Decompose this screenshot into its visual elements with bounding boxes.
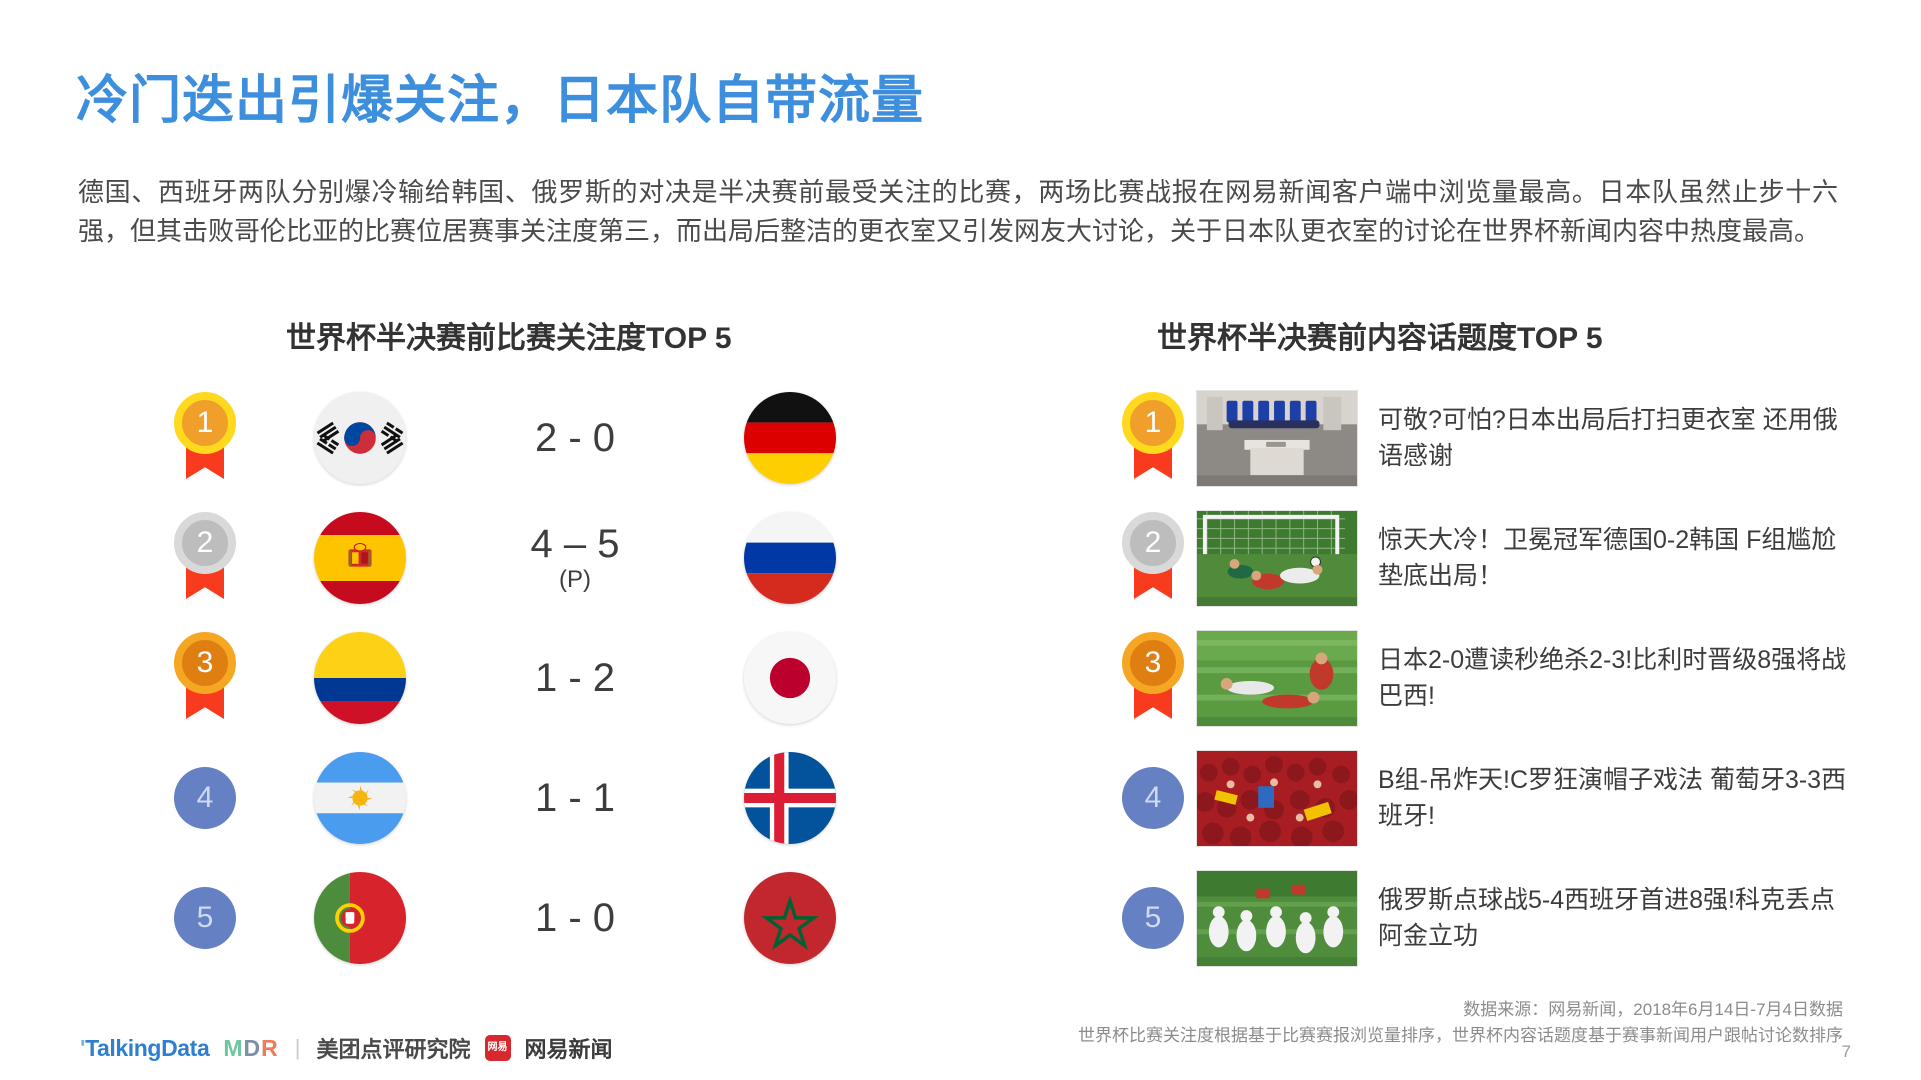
- talkingdata-logo: 'TalkingData: [80, 1035, 209, 1062]
- rank-medal-2: 2: [174, 512, 236, 604]
- topic-row[interactable]: 1 可敬?可怕?日本出局后打扫更衣室 还用俄语感谢: [1110, 378, 1890, 498]
- team-b-cell: [700, 632, 880, 724]
- topic-title: 可敬?可怕?日本出局后打扫更衣室 还用俄语感谢: [1378, 402, 1858, 474]
- talkingdata-label: TalkingData: [85, 1035, 209, 1061]
- score-value: 1 - 1: [535, 776, 615, 820]
- score-value: 4 – 5: [531, 522, 620, 566]
- team-a-cell: [270, 512, 450, 604]
- rank-cell: 4: [1110, 767, 1196, 829]
- logo-bar: 'TalkingData MDR | 美团点评研究院 网易 网易新闻: [80, 1032, 613, 1064]
- rank-cell: 5: [140, 887, 270, 949]
- logo-divider: |: [295, 1035, 301, 1061]
- team-celebration-photo: [1196, 870, 1358, 967]
- source-line-1: 数据来源：网易新闻，2018年6月14日-7月4日数据: [1078, 997, 1843, 1023]
- red-crowd-photo: [1196, 750, 1358, 847]
- flag-es-icon: [314, 512, 406, 604]
- rank-badge-4: 4: [1122, 767, 1184, 829]
- medal-disc: 3: [174, 632, 236, 694]
- topic-title: B组-吊炸天!C罗狂演帽子戏法 葡萄牙3-3西班牙!: [1378, 762, 1858, 834]
- rank-medal-1: 1: [174, 392, 236, 484]
- score-value: 2 - 0: [535, 416, 615, 460]
- locker-room-photo: [1196, 390, 1358, 487]
- medal-disc: 2: [174, 512, 236, 574]
- score-cell: 1 - 2: [450, 657, 700, 699]
- rank-cell: 1: [140, 392, 270, 484]
- rank-badge-5: 5: [174, 887, 236, 949]
- match-row: 1 2 - 0: [140, 378, 880, 498]
- rank-medal-2: 2: [1122, 512, 1184, 604]
- topic-title: 日本2-0遭读秒绝杀2-3!比利时晋级8强将战巴西!: [1378, 642, 1858, 714]
- match-ranking-list: 1 2 - 0: [140, 378, 880, 978]
- flag-ar-icon: [314, 752, 406, 844]
- rank-badge-4: 4: [174, 767, 236, 829]
- left-section-heading: 世界杯半决赛前比赛关注度TOP 5: [286, 313, 732, 357]
- flag-co-icon: [314, 632, 406, 724]
- team-a-cell: [270, 632, 450, 724]
- slide-root: 冷门迭出引爆关注，日本队自带流量 德国、西班牙两队分别爆冷输给韩国、俄罗斯的对决…: [0, 0, 1921, 1080]
- team-b-cell: [700, 872, 880, 964]
- topic-row[interactable]: 3 日本2-0遭读秒绝杀2-3!比利时晋级8强将战巴西!: [1110, 618, 1890, 738]
- page-number: 7: [1842, 1042, 1851, 1062]
- source-line-2: 世界杯比赛关注度根据基于比赛赛报浏览量排序，世界杯内容话题度基于赛事新闻用户跟帖…: [1078, 1023, 1843, 1049]
- team-a-cell: [270, 872, 450, 964]
- score-note: (P): [450, 567, 700, 592]
- flag-kr-icon: [314, 392, 406, 484]
- rank-medal-3: 3: [1122, 632, 1184, 724]
- match-row: 3 1 - 2: [140, 618, 880, 738]
- topic-row[interactable]: 4 B组-吊炸天!C罗狂演帽子戏法 葡萄牙3-3西班牙!: [1110, 738, 1890, 858]
- topic-row[interactable]: 2 惊天大冷！卫冕冠军德国0-2韩国 F组尴尬垫底出局！: [1110, 498, 1890, 618]
- score-cell: 4 – 5 (P): [450, 523, 700, 592]
- match-row: 2 4 – 5 (P): [140, 498, 880, 618]
- netease-label: 网易新闻: [525, 1032, 613, 1064]
- topic-title: 惊天大冷！卫冕冠军德国0-2韩国 F组尴尬垫底出局！: [1378, 522, 1858, 594]
- flag-jp-icon: [744, 632, 836, 724]
- score-value: 1 - 2: [535, 656, 615, 700]
- score-cell: 2 - 0: [450, 417, 700, 459]
- meituan-label: 美团点评研究院: [316, 1032, 470, 1064]
- score-cell: 1 - 0: [450, 897, 700, 939]
- rank-cell: 3: [1110, 632, 1196, 724]
- right-section-heading: 世界杯半决赛前内容话题度TOP 5: [1157, 313, 1603, 357]
- rank-badge-5: 5: [1122, 887, 1184, 949]
- medal-disc: 2: [1122, 512, 1184, 574]
- page-title: 冷门迭出引爆关注，日本队自带流量: [76, 58, 924, 133]
- team-b-cell: [700, 752, 880, 844]
- team-a-cell: [270, 392, 450, 484]
- score-cell: 1 - 1: [450, 777, 700, 819]
- pitch-celebration-photo: [1196, 630, 1358, 727]
- flag-pt-icon: [314, 872, 406, 964]
- topic-row[interactable]: 5 俄罗斯点球战5-4西班牙首进8强!科克丢点阿金立功: [1110, 858, 1890, 978]
- rank-medal-3: 3: [174, 632, 236, 724]
- topic-ranking-list: 1 可敬?可怕?日本出局后打扫更衣室 还用俄语感谢 2: [1110, 378, 1890, 978]
- goal-save-photo: [1196, 510, 1358, 607]
- rank-cell: 2: [1110, 512, 1196, 604]
- flag-is-icon: [744, 752, 836, 844]
- mdr-logo: MDR: [223, 1035, 278, 1062]
- rank-cell: 3: [140, 632, 270, 724]
- team-b-cell: [700, 392, 880, 484]
- flag-ma-icon: [744, 872, 836, 964]
- intro-paragraph: 德国、西班牙两队分别爆冷输给韩国、俄罗斯的对决是半决赛前最受关注的比赛，两场比赛…: [78, 173, 1838, 251]
- match-row: 4 1 - 1: [140, 738, 880, 858]
- rank-cell: 2: [140, 512, 270, 604]
- rank-cell: 4: [140, 767, 270, 829]
- data-source: 数据来源：网易新闻，2018年6月14日-7月4日数据 世界杯比赛关注度根据基于…: [1078, 997, 1843, 1049]
- medal-disc: 1: [1122, 392, 1184, 454]
- netease-icon: 网易: [485, 1035, 511, 1061]
- medal-disc: 1: [174, 392, 236, 454]
- flag-ru-icon: [744, 512, 836, 604]
- topic-title: 俄罗斯点球战5-4西班牙首进8强!科克丢点阿金立功: [1378, 882, 1858, 954]
- match-row: 5 1 - 0: [140, 858, 880, 978]
- medal-disc: 3: [1122, 632, 1184, 694]
- score-value: 1 - 0: [535, 896, 615, 940]
- rank-medal-1: 1: [1122, 392, 1184, 484]
- rank-cell: 1: [1110, 392, 1196, 484]
- flag-de-icon: [744, 392, 836, 484]
- rank-cell: 5: [1110, 887, 1196, 949]
- team-a-cell: [270, 752, 450, 844]
- team-b-cell: [700, 512, 880, 604]
